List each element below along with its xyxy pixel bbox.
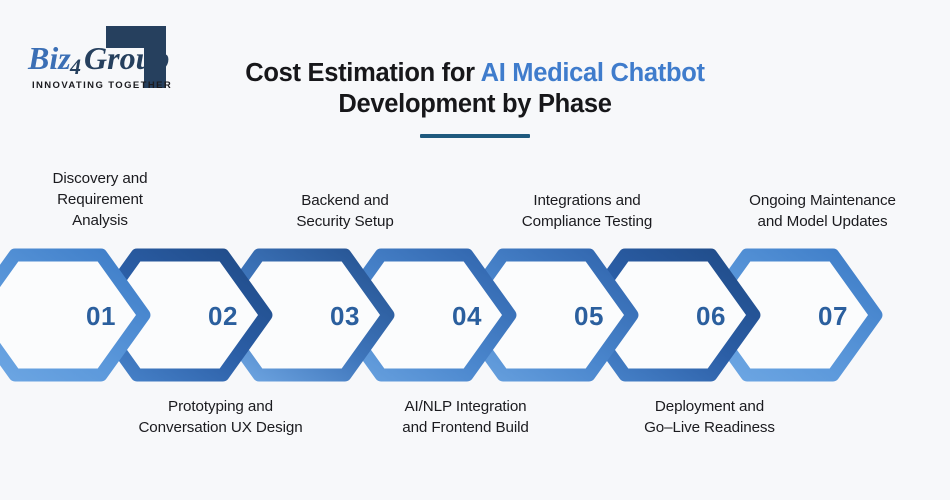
logo-tagline: INNOVATING TOGETHER	[32, 80, 172, 91]
hexagon-outline-02	[94, 255, 266, 375]
page-title: Cost Estimation for AI Medical Chatbot D…	[225, 58, 725, 138]
phase-number-01: 01	[86, 301, 116, 331]
phase-label-01-line2: Requirement	[10, 189, 190, 210]
phase-label-07-line2: and Model Updates	[715, 211, 930, 232]
title-line-1: Cost Estimation for AI Medical Chatbot	[225, 58, 725, 89]
phase-label-07-line1: Ongoing Maintenance	[715, 190, 930, 211]
title-plain-text: Cost Estimation for	[245, 59, 480, 87]
phase-hexagon-05[interactable]: 05	[460, 255, 632, 375]
phase-label-03-line1: Backend and	[255, 190, 435, 211]
phase-label-01-line1: Discovery and	[10, 168, 190, 189]
phase-label-01-line3: Analysis	[10, 210, 190, 231]
phase-number-05: 05	[574, 301, 604, 331]
hexagon-outline-05	[460, 255, 632, 375]
phase-label-03: Backend and Security Setup	[255, 190, 435, 232]
hexagon-outline-06	[582, 255, 754, 375]
phase-label-02-line2: Conversation UX Design	[108, 417, 333, 438]
logo-wordmark-digit: 4	[69, 54, 81, 79]
phase-number-07: 07	[818, 301, 848, 331]
hexagon-outline-01	[0, 255, 144, 375]
phase-label-04-line2: and Frontend Build	[368, 417, 563, 438]
phase-label-02-line1: Prototyping and	[108, 396, 333, 417]
phase-hexagon-01[interactable]: 01	[0, 255, 144, 375]
phase-label-02: Prototyping and Conversation UX Design	[108, 396, 333, 438]
phase-label-06-line1: Deployment and	[612, 396, 807, 417]
phase-label-04-line1: AI/NLP Integration	[368, 396, 563, 417]
phase-label-07: Ongoing Maintenance and Model Updates	[715, 190, 930, 232]
logo-wordmark-group: Group	[84, 40, 169, 76]
phase-label-06-line2: Go–Live Readiness	[612, 417, 807, 438]
phase-hexagon-06[interactable]: 06	[582, 255, 754, 375]
phase-label-01: Discovery and Requirement Analysis	[10, 168, 190, 231]
title-line-2: Development by Phase	[225, 89, 725, 120]
title-accent-text: AI Medical Chatbot	[481, 59, 705, 87]
phase-hexagon-03[interactable]: 03	[216, 255, 388, 375]
phase-hexagon-04[interactable]: 04	[338, 255, 510, 375]
phase-label-04: AI/NLP Integration and Frontend Build	[368, 396, 563, 438]
hexagon-outline-04	[338, 255, 510, 375]
phase-number-02: 02	[208, 301, 238, 331]
title-underline-rule	[420, 134, 530, 138]
biz4group-logo: Biz 4 Group INNOVATING TOGETHER	[18, 18, 178, 96]
phase-number-06: 06	[696, 301, 726, 331]
phase-label-05-line1: Integrations and	[487, 190, 687, 211]
phase-label-05-line2: Compliance Testing	[487, 211, 687, 232]
phase-label-06: Deployment and Go–Live Readiness	[612, 396, 807, 438]
hexagon-outline-03	[216, 255, 388, 375]
phase-number-04: 04	[452, 301, 482, 331]
phase-hexagon-07[interactable]: 07	[704, 255, 876, 375]
phase-label-05: Integrations and Compliance Testing	[487, 190, 687, 232]
phase-number-03: 03	[330, 301, 360, 331]
hexagon-outline-07	[704, 255, 876, 375]
logo-wordmark-biz: Biz	[27, 40, 71, 76]
phase-hexagon-02[interactable]: 02	[94, 255, 266, 375]
phase-label-03-line2: Security Setup	[255, 211, 435, 232]
